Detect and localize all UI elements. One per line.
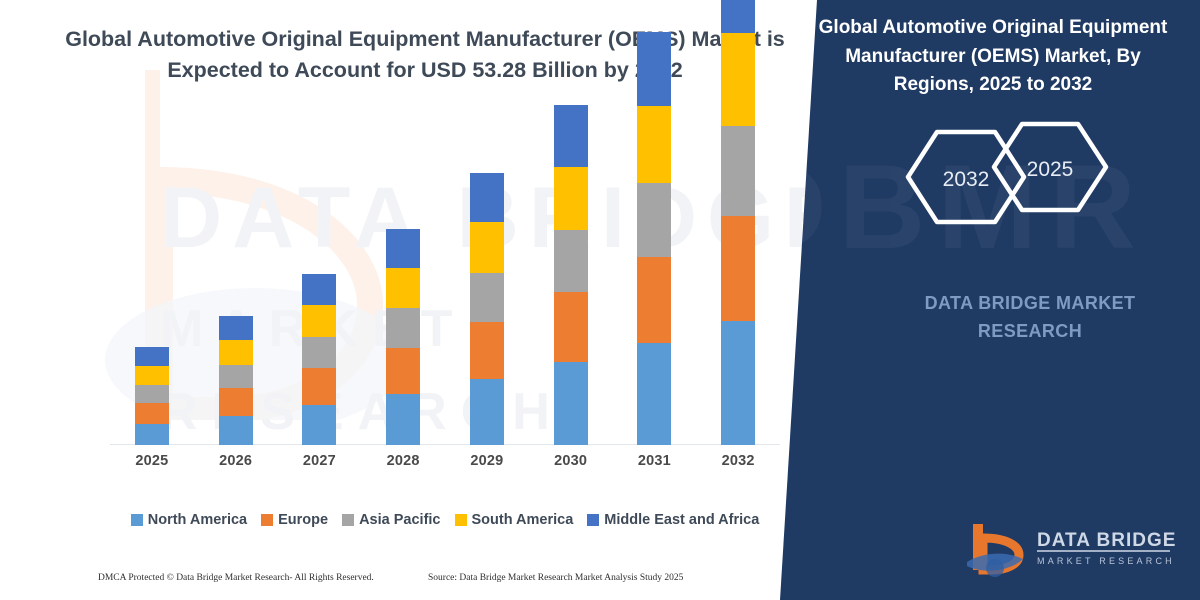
bar-segment (386, 268, 420, 308)
legend-label: Middle East and Africa (604, 512, 759, 528)
x-axis-label: 2028 (364, 453, 442, 469)
legend-item[interactable]: Asia Pacific (342, 512, 440, 528)
chart-legend: North AmericaEuropeAsia PacificSouth Ame… (100, 512, 790, 528)
footer: DMCA Protected © Data Bridge Market Rese… (0, 568, 800, 588)
x-axis-labels: 20252026202720282029203020312032 (110, 447, 780, 475)
bar-segment (721, 321, 755, 445)
bar-segment (470, 273, 504, 322)
bar-segment (721, 0, 755, 33)
legend-label: Asia Pacific (359, 512, 440, 528)
dbmr-logo: DATA BRIDGE MARKET RESEARCH (965, 518, 1180, 580)
stacked-bar[interactable] (554, 105, 588, 445)
hexagon-badges: 2032 2025 (890, 120, 1120, 235)
bar-segment (302, 305, 336, 337)
stacked-bar[interactable] (219, 316, 253, 445)
bar-segment (554, 230, 588, 292)
bar-segment (219, 340, 253, 365)
legend-label: South America (472, 512, 574, 528)
bar-segment (470, 322, 504, 379)
bar-segment (135, 347, 169, 366)
stacked-bar[interactable] (470, 173, 504, 445)
legend-swatch (587, 514, 599, 526)
bar-segment (637, 106, 671, 183)
x-axis-label: 2029 (448, 453, 526, 469)
legend-swatch (131, 514, 143, 526)
bar-segment (386, 229, 420, 268)
bar-segment (302, 274, 336, 305)
left-chart-panel: DATA BRIDGE MARKET RESEARCH Global Autom… (0, 0, 850, 600)
legend-item[interactable]: North America (131, 512, 247, 528)
bar-segment (470, 173, 504, 222)
bar-group (113, 347, 191, 445)
bar-segment (135, 403, 169, 424)
legend-item[interactable]: Middle East and Africa (587, 512, 759, 528)
bar-segment (302, 368, 336, 405)
bar-segment (470, 222, 504, 273)
bar-segment (554, 362, 588, 445)
bar-group (280, 274, 358, 445)
legend-label: Europe (278, 512, 328, 528)
bar-segment (721, 216, 755, 321)
bar-group (532, 105, 610, 445)
dbmr-logo-secondary: MARKET RESEARCH (1037, 556, 1175, 566)
brand-name: DATA BRIDGE MARKET RESEARCH (880, 290, 1180, 346)
stacked-bar[interactable] (637, 32, 671, 445)
bar-segment (302, 405, 336, 445)
bar-segment (721, 33, 755, 126)
bar-segment (135, 424, 169, 445)
bar-segment (219, 416, 253, 445)
bar-segment (637, 32, 671, 106)
bar-segment (721, 126, 755, 216)
bar-segment (637, 183, 671, 257)
bar-group (699, 0, 777, 445)
bar-segment (302, 337, 336, 368)
x-axis-label: 2026 (197, 453, 275, 469)
stacked-bar[interactable] (721, 0, 755, 445)
bar-segment (135, 366, 169, 385)
bar-segment (554, 167, 588, 230)
legend-swatch (455, 514, 467, 526)
bar-segment (219, 365, 253, 388)
dbmr-logo-icon (967, 524, 1023, 577)
infographic-root: DATA BRIDGE MARKET RESEARCH Global Autom… (0, 0, 1200, 600)
stacked-bar[interactable] (386, 229, 420, 445)
dmca-notice: DMCA Protected © Data Bridge Market Rese… (98, 573, 374, 583)
legend-item[interactable]: South America (455, 512, 574, 528)
source-note: Source: Data Bridge Market Research Mark… (428, 573, 683, 583)
stacked-bar[interactable] (135, 347, 169, 445)
stacked-bar-chart: 20252026202720282029203020312032 (110, 130, 780, 475)
dbmr-logo-primary: DATA BRIDGE (1037, 530, 1176, 551)
legend-swatch (261, 514, 273, 526)
bar-segment (219, 388, 253, 416)
bar-group (448, 173, 526, 445)
bar-segment (637, 343, 671, 445)
bar-segment (219, 316, 253, 340)
bar-segment (637, 257, 671, 343)
x-axis-label: 2025 (113, 453, 191, 469)
bar-segment (386, 308, 420, 348)
x-axis-label: 2031 (615, 453, 693, 469)
bar-segment (386, 348, 420, 394)
x-axis-label: 2032 (699, 453, 777, 469)
panel-title: Global Automotive Original Equipment Man… (808, 14, 1178, 100)
bar-segment (470, 379, 504, 445)
chart-bars (110, 130, 780, 445)
hexagon-2032-label: 2032 (943, 168, 990, 191)
bar-segment (386, 394, 420, 445)
bar-group (615, 32, 693, 445)
legend-swatch (342, 514, 354, 526)
stacked-bar[interactable] (302, 274, 336, 445)
right-title-panel: DBMR Global Automotive Original Equipmen… (780, 0, 1200, 600)
x-axis-label: 2030 (532, 453, 610, 469)
legend-item[interactable]: Europe (261, 512, 328, 528)
legend-label: North America (148, 512, 247, 528)
bar-segment (554, 105, 588, 167)
hexagon-2025-label: 2025 (1027, 158, 1074, 181)
bar-segment (135, 385, 169, 403)
bar-segment (554, 292, 588, 362)
bar-group (197, 316, 275, 445)
bar-group (364, 229, 442, 445)
x-axis-label: 2027 (280, 453, 358, 469)
